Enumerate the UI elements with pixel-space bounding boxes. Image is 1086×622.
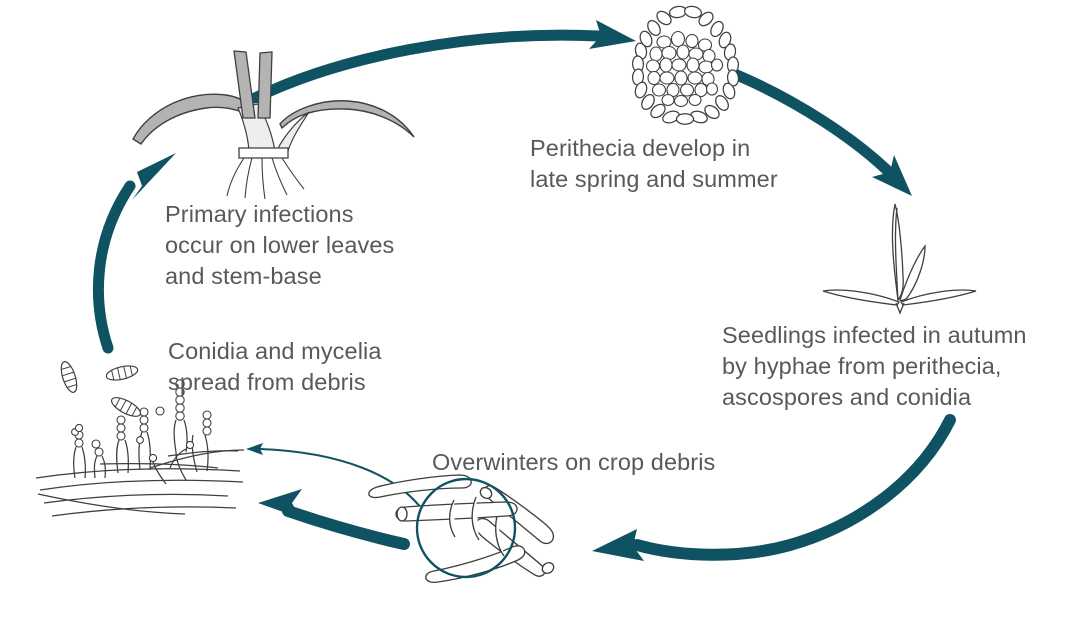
magnifier-circle xyxy=(417,479,515,577)
infected-plant-icon xyxy=(133,51,414,199)
seedling-icon xyxy=(823,204,976,313)
label-primary-infection-stage: Primary infections occur on lower leaves… xyxy=(165,199,394,292)
crop-debris-icon xyxy=(369,475,556,582)
arrow-seedling-to-debris xyxy=(592,420,950,561)
label-perithecia-stage: Perithecia develop in late spring and su… xyxy=(530,133,778,195)
perithecium-icon xyxy=(632,5,739,125)
diagram-canvas xyxy=(0,0,1086,622)
label-conidia-spread-stage: Conidia and mycelia spread from debris xyxy=(168,336,382,398)
label-overwinters-stage: Overwinters on crop debris xyxy=(432,447,715,478)
mycelium-icon xyxy=(36,380,244,516)
arrow-plant-to-perithecia xyxy=(255,20,636,98)
label-seedlings-stage: Seedlings infected in autumn by hyphae f… xyxy=(722,320,1027,413)
disease-cycle-diagram: Perithecia develop in late spring and su… xyxy=(0,0,1086,622)
